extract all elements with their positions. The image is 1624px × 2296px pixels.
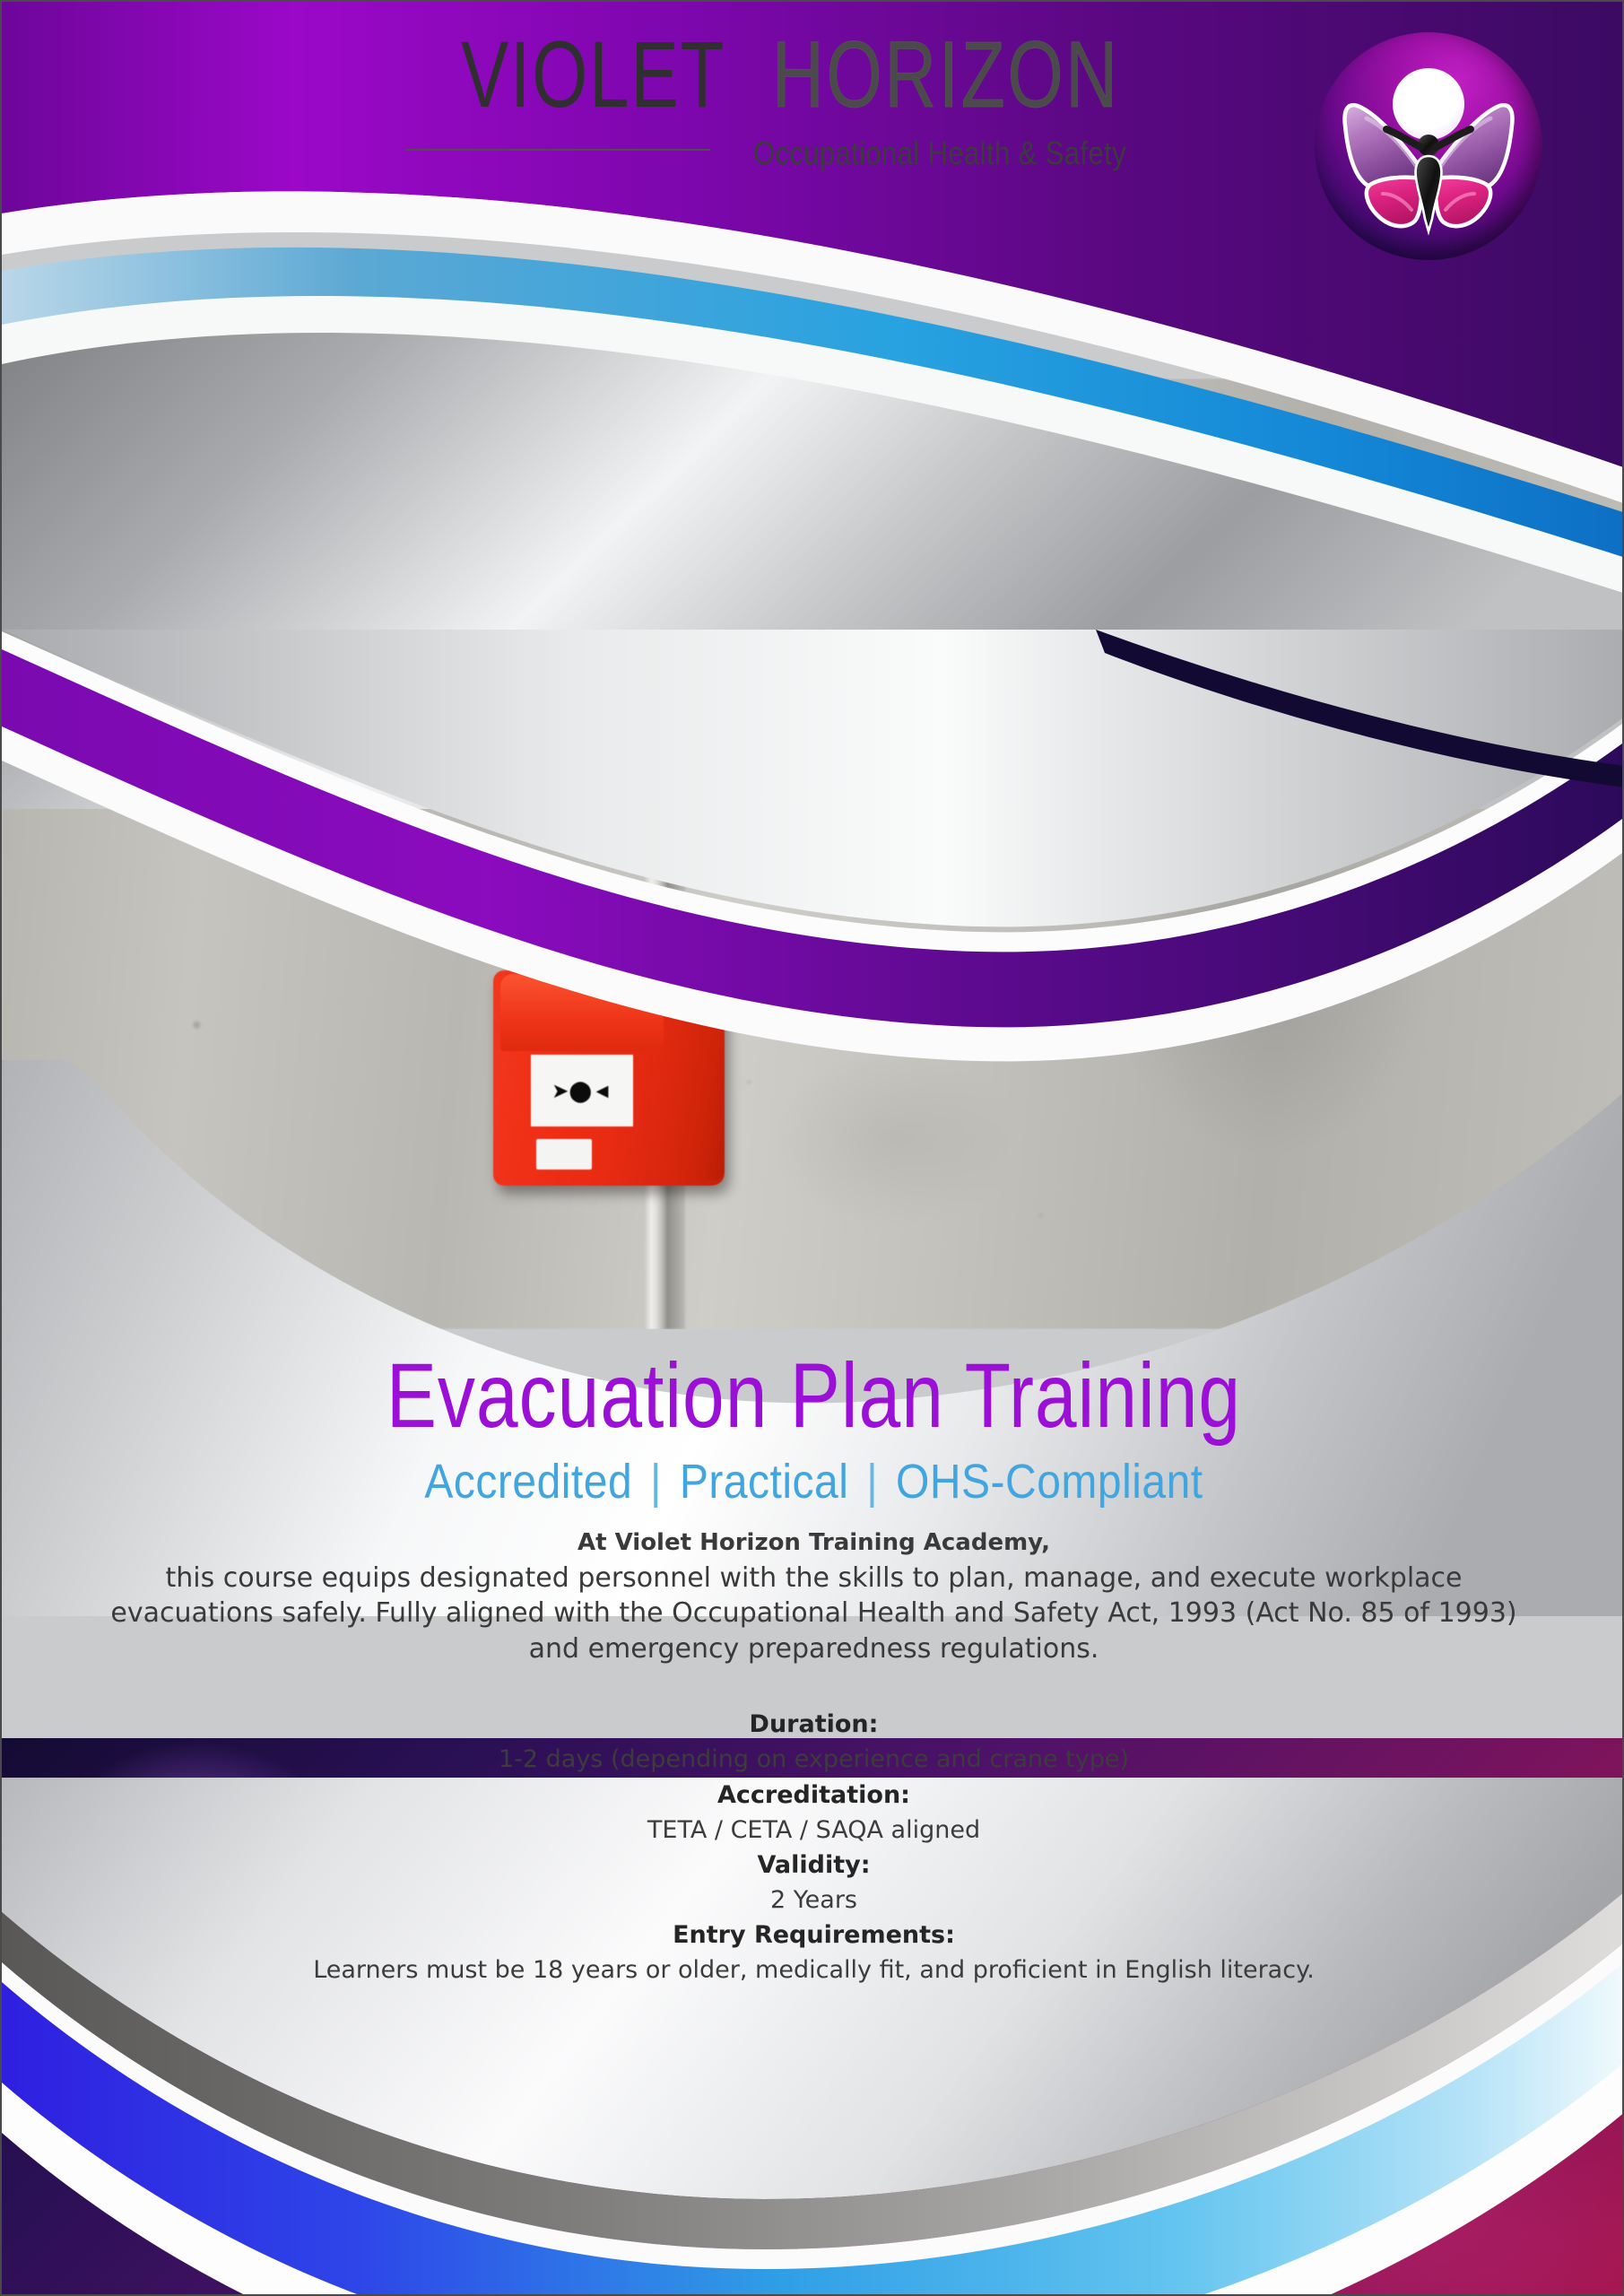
- brand-name-horizon: HORIZON: [772, 27, 1120, 121]
- subtitle-separator-1: |: [645, 1456, 667, 1509]
- brand-logo: VIOLET HORIZON Occupational Health & Saf…: [396, 27, 1203, 179]
- call-point-side-panel: [653, 981, 725, 1180]
- break-glass-arrows-icon: ➤⬤◄: [531, 1055, 633, 1126]
- poster-page: ➤⬤◄: [0, 0, 1624, 2296]
- logo-divider-rule: [405, 149, 710, 151]
- spec-key: Validity:: [187, 1848, 1442, 1883]
- spec-key: Duration:: [187, 1707, 1442, 1742]
- poster-content: Evacuation Plan Training Accredited | Pr…: [2, 1347, 1624, 1987]
- course-specs-list: Duration: 1-2 days (depending on experie…: [187, 1707, 1442, 1987]
- call-point-slot: [660, 990, 696, 997]
- pillar-shadow-edge: [665, 378, 685, 1329]
- spec-item-entry-requirements: Entry Requirements: Learners must be 18 …: [187, 1918, 1442, 1987]
- subtitle-item-accredited: Accredited: [424, 1456, 632, 1509]
- fire-alarm-sign: [725, 378, 999, 713]
- intro-lead: At Violet Horizon Training Academy,: [97, 1527, 1532, 1559]
- subtitle-separator-2: |: [861, 1456, 883, 1509]
- spec-value: TETA / CETA / SAQA aligned: [187, 1813, 1442, 1848]
- subtitle-badges: Accredited | Practical | OHS-Compliant: [2, 1457, 1624, 1509]
- spec-value: Learners must be 18 years or older, medi…: [187, 1952, 1442, 1987]
- brand-name-violet: VIOLET: [461, 27, 725, 121]
- spec-item-validity: Validity: 2 Years: [187, 1848, 1442, 1918]
- intro-body: this course equips designated personnel …: [110, 1562, 1516, 1665]
- spec-item-duration: Duration: 1-2 days (depending on experie…: [187, 1707, 1442, 1777]
- pillar-edge: [644, 378, 665, 1329]
- brand-tagline: Occupational Health & Safety: [753, 135, 1126, 172]
- call-point-window: ➤⬤◄: [531, 1055, 633, 1126]
- intro-paragraph: At Violet Horizon Training Academy, this…: [97, 1527, 1532, 1667]
- fire-alarm-call-point-device: ➤⬤◄: [493, 970, 725, 1186]
- call-point-label: [536, 1139, 592, 1170]
- spec-key: Entry Requirements:: [187, 1918, 1442, 1952]
- call-point-top-cover: [500, 974, 664, 1051]
- spec-item-accreditation: Accreditation: TETA / CETA / SAQA aligne…: [187, 1778, 1442, 1848]
- fire-alarm-call-point-sign-icon: [733, 378, 991, 705]
- brand-wordmark: VIOLET HORIZON: [396, 27, 1203, 117]
- hero-photo: ➤⬤◄: [2, 378, 1624, 1329]
- subtitle-item-ohs-compliant: OHS-Compliant: [896, 1456, 1203, 1509]
- page-title: Evacuation Plan Training: [2, 1347, 1624, 1444]
- spec-value: 2 Years: [187, 1883, 1442, 1918]
- spec-value: 1-2 days (depending on experience and cr…: [187, 1742, 1442, 1777]
- subtitle-item-practical: Practical: [680, 1456, 849, 1509]
- spec-key: Accreditation:: [187, 1778, 1442, 1813]
- butterfly-logo-icon: [1315, 32, 1542, 260]
